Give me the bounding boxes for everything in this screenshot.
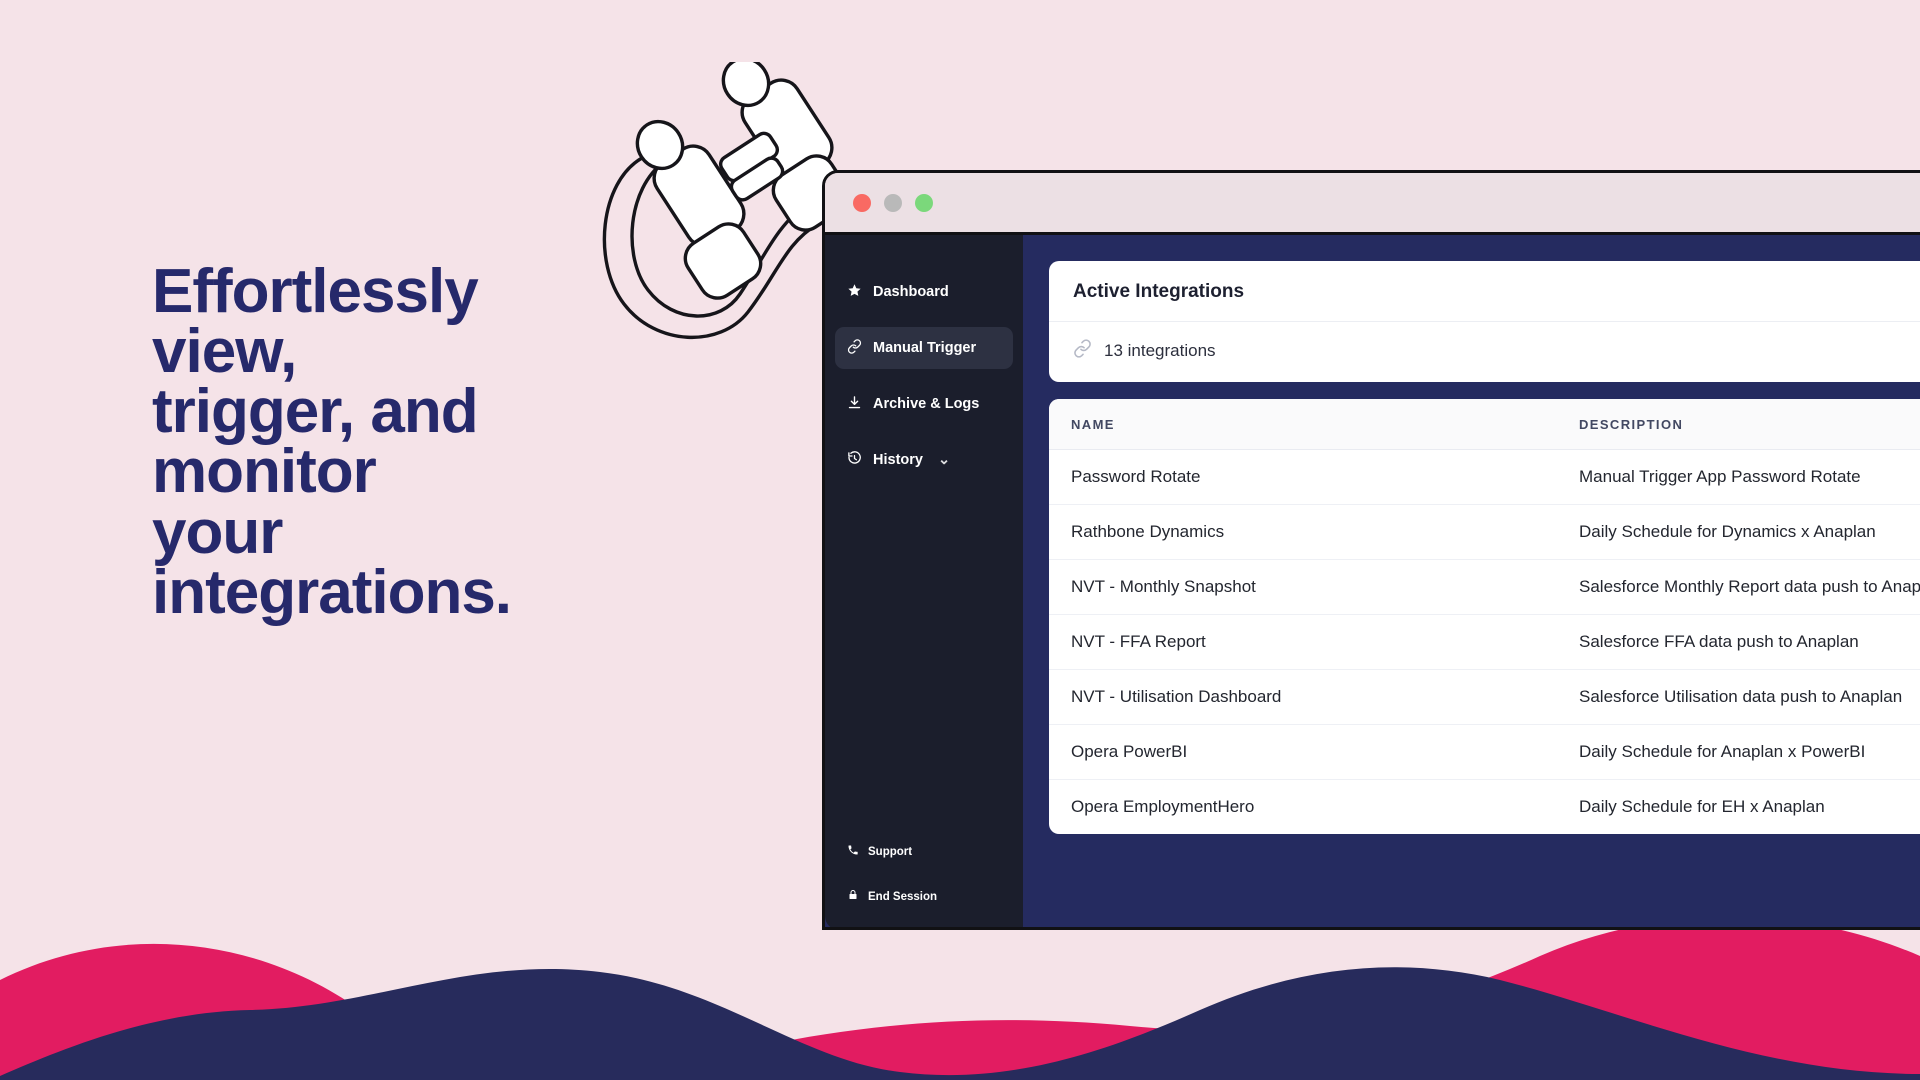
sidebar: Dashboard Manual Trigger [825, 235, 1023, 930]
history-icon [847, 451, 862, 470]
table-row[interactable]: NVT - FFA Report Salesforce FFA data pus… [1049, 615, 1920, 670]
table-row[interactable]: Opera EmploymentHero Daily Schedule for … [1049, 780, 1920, 835]
active-integrations-card: Active Integrations 13 integrations [1049, 261, 1920, 382]
sidebar-item-history[interactable]: History ⌄ [835, 439, 1013, 481]
minimize-button[interactable] [884, 194, 902, 212]
integrations-table-card: NAME DESCRIPTION Password Rotate Manual … [1049, 399, 1920, 834]
download-icon [847, 395, 862, 414]
sidebar-item-dashboard[interactable]: Dashboard [835, 271, 1013, 313]
sidebar-item-support[interactable]: Support [847, 844, 1001, 859]
cell-description: Daily Schedule for EH x Anaplan [1557, 780, 1920, 835]
cell-description: Salesforce FFA data push to Anaplan [1557, 615, 1920, 670]
sidebar-footer-label: Support [868, 846, 912, 858]
sidebar-item-archive-logs[interactable]: Archive & Logs [835, 383, 1013, 425]
cell-description: Manual Trigger App Password Rotate [1557, 450, 1920, 505]
cell-name: Password Rotate [1049, 450, 1557, 505]
app-window: Dashboard Manual Trigger [822, 170, 1920, 930]
sidebar-item-label: Dashboard [873, 284, 949, 300]
headline-line: view, [152, 322, 632, 382]
sidebar-footer: Support End Session [825, 844, 1023, 930]
column-header-name[interactable]: NAME [1049, 399, 1557, 450]
binoculars-icon [580, 62, 860, 352]
table-row[interactable]: Opera PowerBI Daily Schedule for Anaplan… [1049, 725, 1920, 780]
table-header: NAME DESCRIPTION [1049, 399, 1920, 450]
table-row[interactable]: Rathbone Dynamics Daily Schedule for Dyn… [1049, 505, 1920, 560]
sidebar-spacer [825, 495, 1023, 844]
table-row[interactable]: NVT - Monthly Snapshot Salesforce Monthl… [1049, 560, 1920, 615]
table-header-row: NAME DESCRIPTION [1049, 399, 1920, 450]
headline-line: Effortlessly [152, 262, 632, 322]
window-body: Dashboard Manual Trigger [825, 235, 1920, 930]
sidebar-item-label: Manual Trigger [873, 340, 976, 356]
cell-description: Daily Schedule for Dynamics x Anaplan [1557, 505, 1920, 560]
hero-headline: Effortlessly view, trigger, and monitor … [152, 262, 632, 623]
cell-name: NVT - FFA Report [1049, 615, 1557, 670]
sidebar-item-manual-trigger[interactable]: Manual Trigger [835, 327, 1013, 369]
window-titlebar [825, 173, 1920, 235]
headline-line: your [152, 503, 632, 563]
cell-description: Salesforce Utilisation data push to Anap… [1557, 670, 1920, 725]
sidebar-item-label: Archive & Logs [873, 396, 979, 412]
cell-description: Daily Schedule for Anaplan x PowerBI [1557, 725, 1920, 780]
headline-line: monitor [152, 442, 632, 502]
page-root: Effortlessly view, trigger, and monitor … [0, 0, 1920, 1080]
column-header-description[interactable]: DESCRIPTION [1557, 399, 1920, 450]
cell-name: NVT - Monthly Snapshot [1049, 560, 1557, 615]
cell-name: Rathbone Dynamics [1049, 505, 1557, 560]
chevron-down-icon: ⌄ [938, 452, 950, 468]
link-icon [1073, 339, 1092, 363]
cell-name: NVT - Utilisation Dashboard [1049, 670, 1557, 725]
headline-line: trigger, and [152, 382, 632, 442]
sidebar-item-end-session[interactable]: End Session [847, 889, 1001, 904]
main-content: Active Integrations 13 integrations [1023, 235, 1920, 930]
lock-icon [847, 889, 859, 904]
integrations-table: NAME DESCRIPTION Password Rotate Manual … [1049, 399, 1920, 834]
cell-name: Opera PowerBI [1049, 725, 1557, 780]
integrations-count-row: 13 integrations [1049, 322, 1920, 382]
star-icon [847, 283, 862, 302]
sidebar-nav: Dashboard Manual Trigger [825, 271, 1023, 495]
link-icon [847, 339, 862, 358]
sidebar-item-label: History [873, 452, 923, 468]
sidebar-footer-label: End Session [868, 891, 937, 903]
cell-description: Salesforce Monthly Report data push to A… [1557, 560, 1920, 615]
maximize-button[interactable] [915, 194, 933, 212]
table-row[interactable]: NVT - Utilisation Dashboard Salesforce U… [1049, 670, 1920, 725]
phone-icon [847, 844, 859, 859]
integrations-count-label: 13 integrations [1104, 341, 1216, 361]
close-button[interactable] [853, 194, 871, 212]
table-row[interactable]: Password Rotate Manual Trigger App Passw… [1049, 450, 1920, 505]
cell-name: Opera EmploymentHero [1049, 780, 1557, 835]
table-body: Password Rotate Manual Trigger App Passw… [1049, 450, 1920, 835]
card-title: Active Integrations [1049, 261, 1920, 322]
headline-line: integrations. [152, 563, 632, 623]
